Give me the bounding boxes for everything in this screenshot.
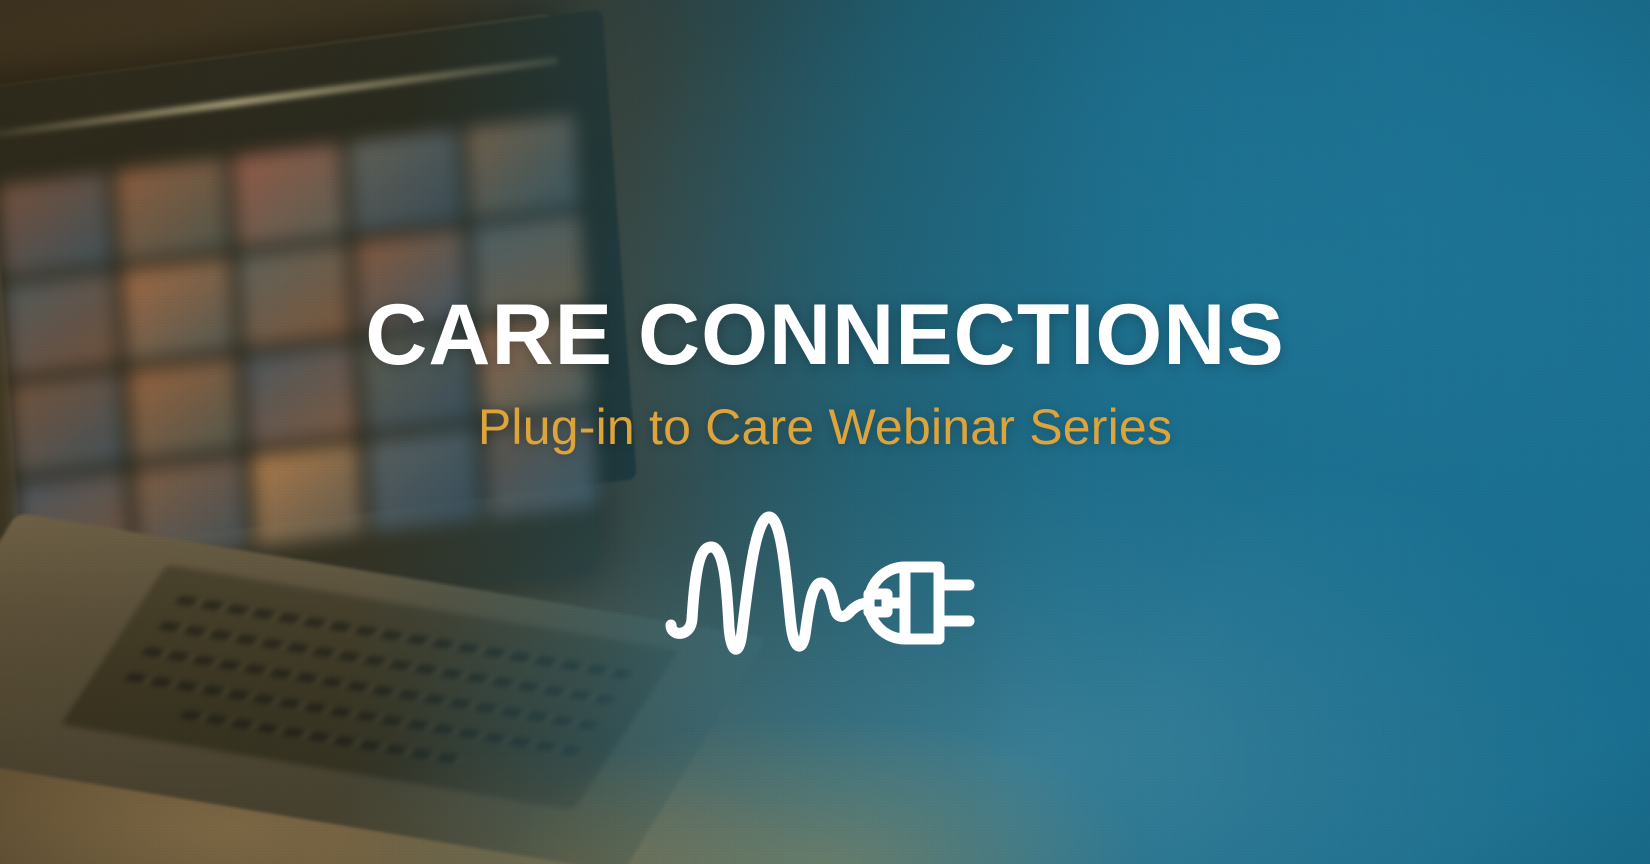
plug-body-rect (905, 567, 939, 639)
heartbeat-plug-svg (665, 495, 985, 660)
heartbeat-waveform-path (671, 517, 869, 649)
care-connections-banner: CARE CONNECTIONS Plug-in to Care Webinar… (0, 0, 1650, 864)
heartbeat-plug-icon (665, 495, 985, 660)
page-subtitle: Plug-in to Care Webinar Series (0, 402, 1650, 452)
page-title: CARE CONNECTIONS (0, 292, 1650, 378)
banner-content: CARE CONNECTIONS Plug-in to Care Webinar… (0, 0, 1650, 864)
